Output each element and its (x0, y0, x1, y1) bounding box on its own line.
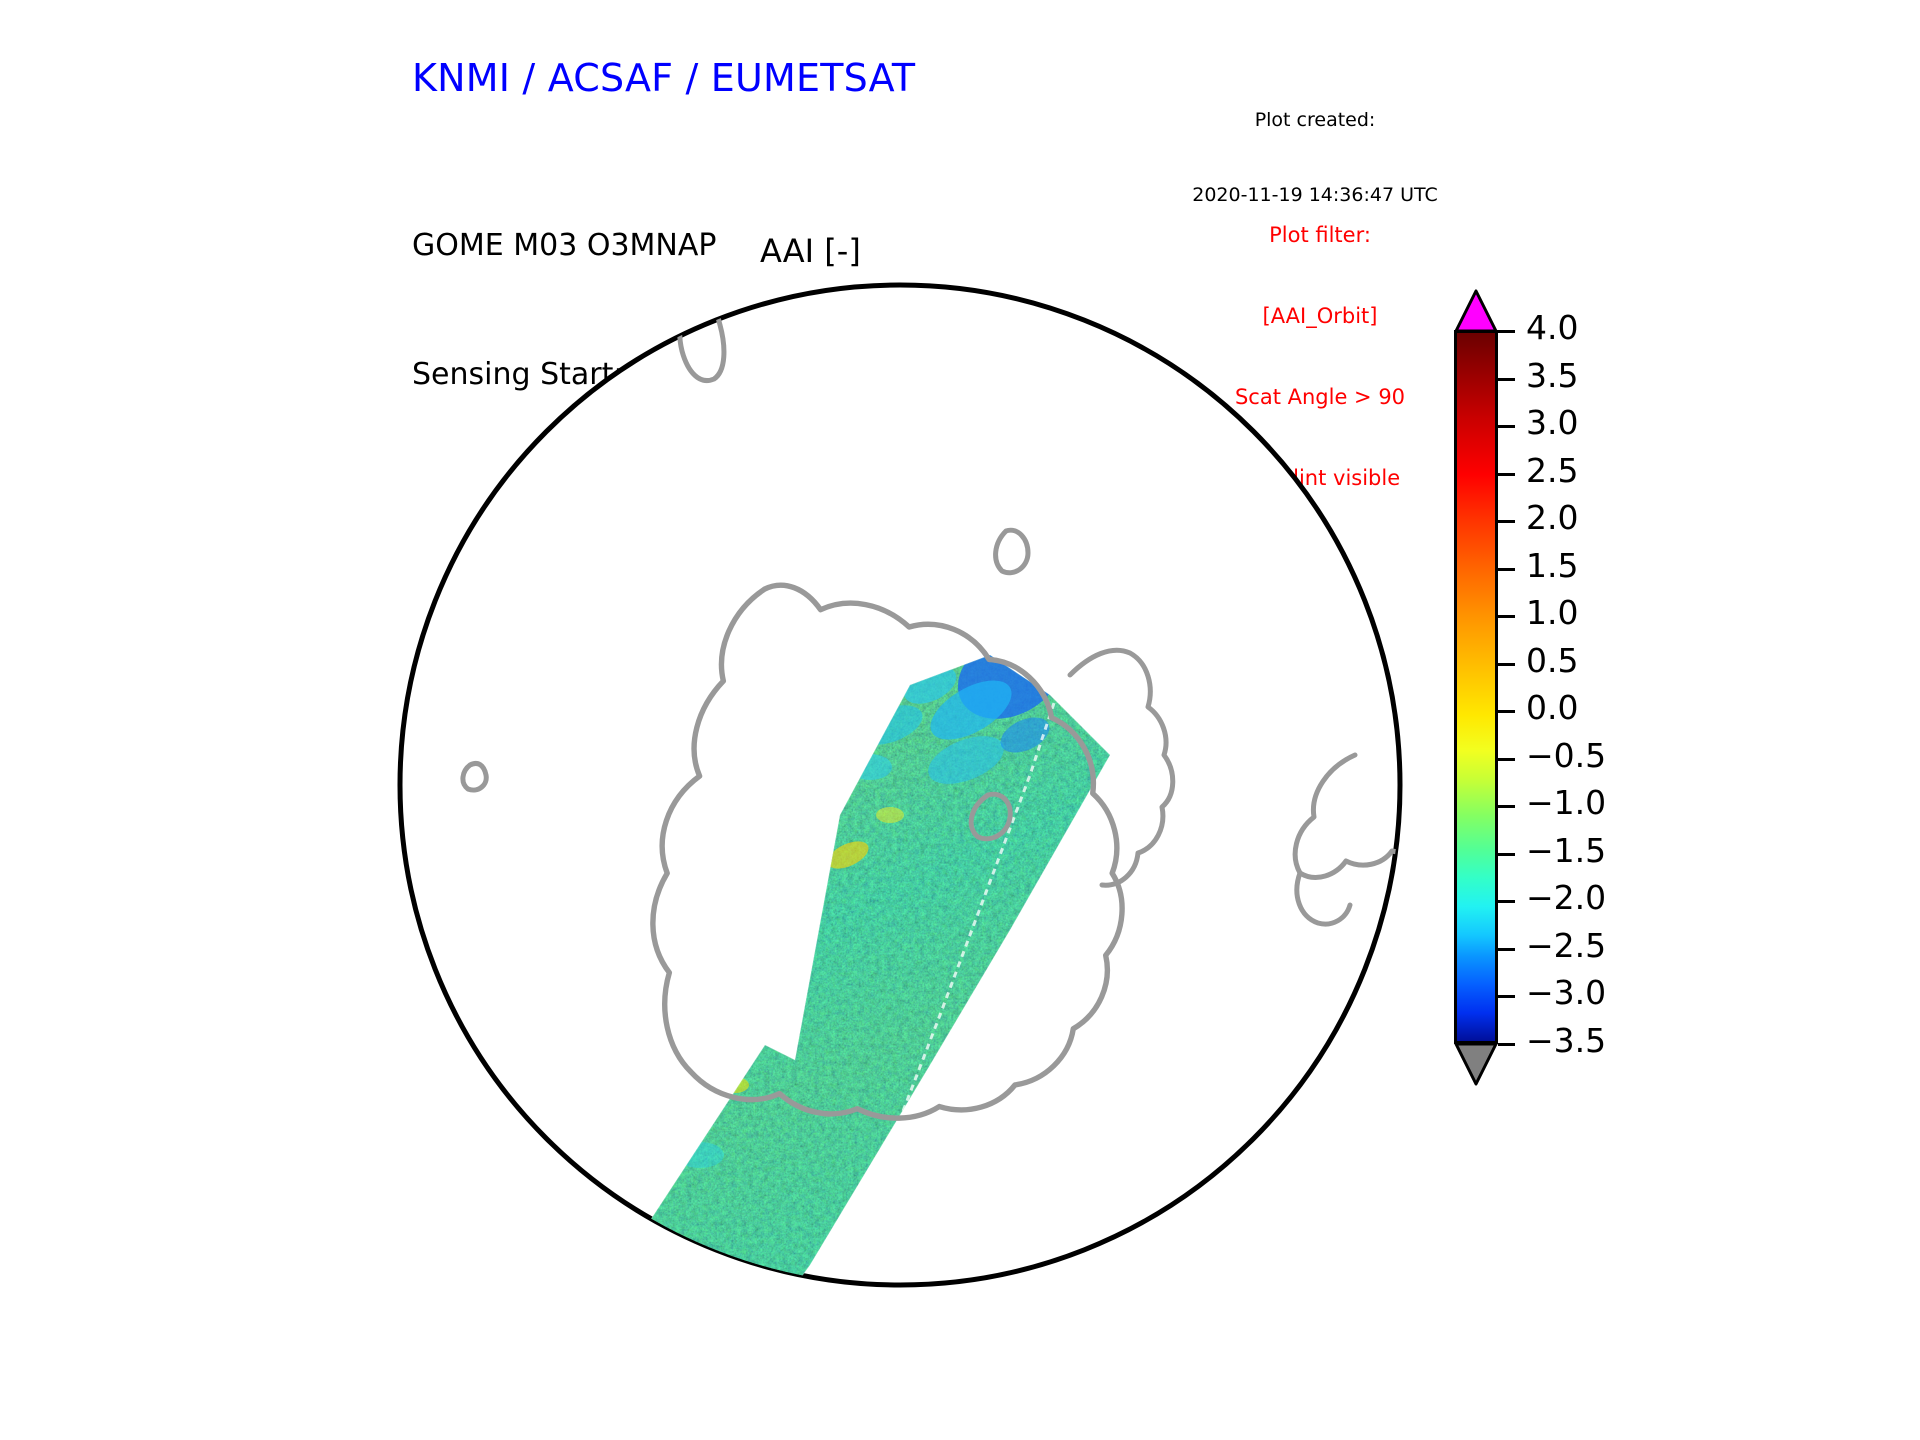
org-title: KNMI / ACSAF / EUMETSAT (412, 56, 915, 100)
colorbar-label: 0.0 (1526, 688, 1578, 727)
colorbar-tick (1498, 473, 1515, 476)
colorbar-tick (1498, 853, 1515, 856)
colorbar-label: 3.0 (1526, 403, 1578, 442)
plot-filter-line-1: Plot filter: (1160, 222, 1480, 249)
colorbar-gradient (1454, 330, 1498, 1044)
colorbar-label: 2.5 (1526, 451, 1578, 490)
colorbar-label: 0.5 (1526, 641, 1578, 680)
colorbar-label: 1.0 (1526, 593, 1578, 632)
colorbar-label: −3.5 (1526, 1021, 1606, 1060)
colorbar-tick (1498, 1043, 1515, 1046)
colorbar-tick (1498, 663, 1515, 666)
colorbar-label: 1.5 (1526, 546, 1578, 585)
colorbar-tick (1498, 758, 1515, 761)
colorbar-tick (1498, 615, 1515, 618)
colorbar: 4.0 3.5 3.0 2.5 2.0 1.5 1.0 0.5 0.0 −0.5… (1440, 282, 1700, 1092)
colorbar-tick (1498, 425, 1515, 428)
colorbar-tick (1498, 568, 1515, 571)
colorbar-tick (1498, 520, 1515, 523)
colorbar-label: 4.0 (1526, 308, 1578, 347)
colorbar-under-arrow (1454, 1042, 1498, 1086)
colorbar-label: −1.5 (1526, 831, 1606, 870)
colorbar-label: −2.5 (1526, 926, 1606, 965)
colorbar-label: −3.0 (1526, 973, 1606, 1012)
colorbar-over-arrow (1454, 289, 1498, 333)
colorbar-tick (1498, 805, 1515, 808)
colorbar-tick (1498, 995, 1515, 998)
colorbar-label: −1.0 (1526, 783, 1606, 822)
colorbar-tick (1498, 378, 1515, 381)
map-plot-area (370, 255, 1430, 1325)
colorbar-tick (1498, 948, 1515, 951)
colorbar-label: 3.5 (1526, 356, 1578, 395)
polar-map-svg (370, 255, 1430, 1325)
colorbar-tick (1498, 710, 1515, 713)
colorbar-label: −0.5 (1526, 736, 1606, 775)
colorbar-label: 2.0 (1526, 498, 1578, 537)
plot-created-label: Plot created: (1155, 108, 1475, 133)
colorbar-tick (1498, 900, 1515, 903)
colorbar-tick (1498, 330, 1515, 333)
colorbar-label: −2.0 (1526, 878, 1606, 917)
